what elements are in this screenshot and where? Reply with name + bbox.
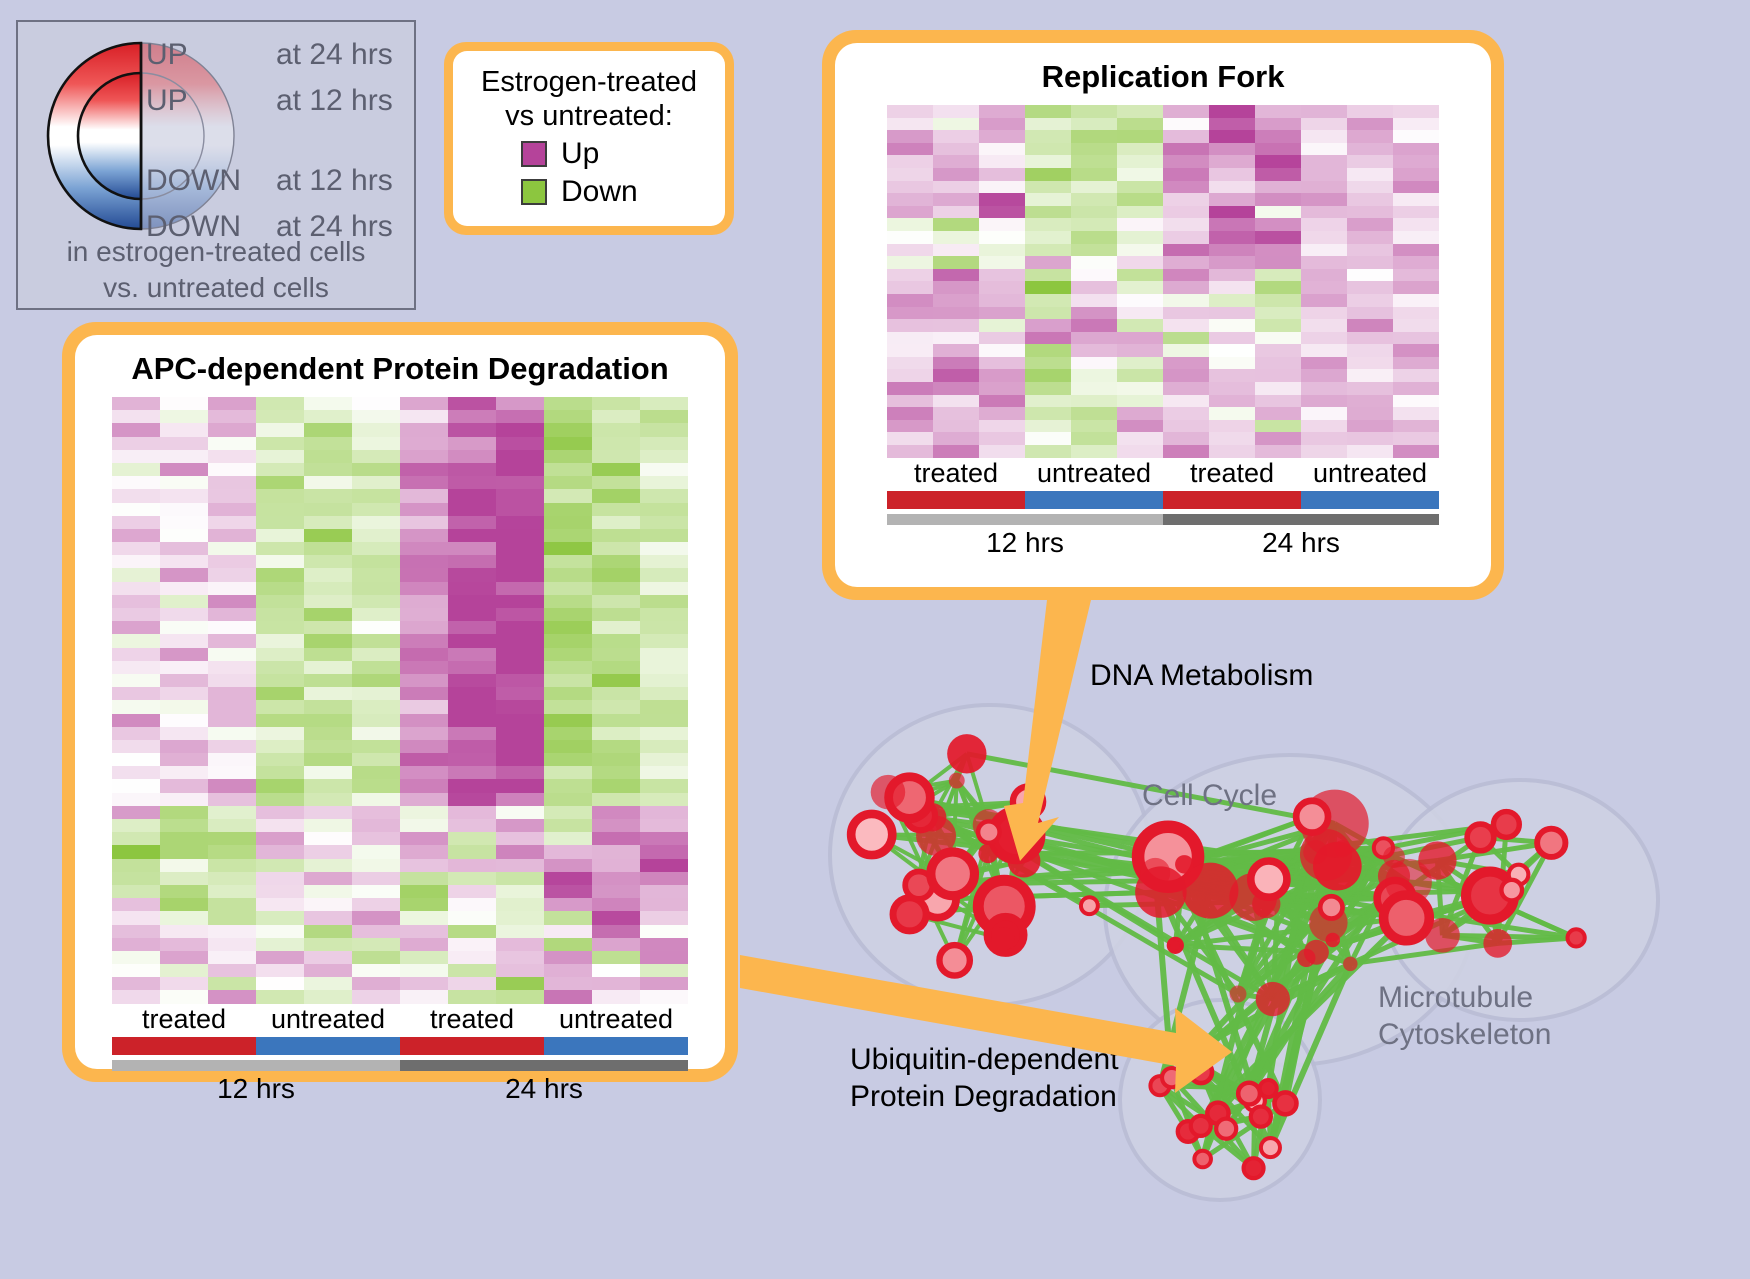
heatmap-cell — [448, 608, 496, 621]
heatmap-cell — [496, 687, 544, 700]
heatmap-cell — [208, 964, 256, 977]
heatmap-cell — [304, 450, 352, 463]
heatmap-cell — [1209, 432, 1255, 445]
heatmap-cell — [1025, 218, 1071, 231]
heatmap-cell — [160, 608, 208, 621]
heatmap-cell — [640, 423, 688, 436]
heatmap-cell — [400, 516, 448, 529]
heatmap-cell — [256, 463, 304, 476]
up-down-legend-body: Estrogen-treated vs untreated: Up Down — [453, 51, 725, 226]
heatmap-cell — [112, 621, 160, 634]
heatmap-cell — [1209, 445, 1255, 458]
heatmap-cell — [304, 648, 352, 661]
heatmap-cell — [1025, 407, 1071, 420]
heatmap-cell — [887, 407, 933, 420]
heatmap-cell — [400, 555, 448, 568]
heatmap-cell — [933, 206, 979, 219]
heatmap-cell — [160, 648, 208, 661]
heatmap-cell — [160, 410, 208, 423]
heatmap-cell — [448, 766, 496, 779]
heatmap-cell — [400, 450, 448, 463]
heatmap-cell — [256, 450, 304, 463]
heatmap-cell — [1071, 294, 1117, 307]
heatmap-cell — [400, 819, 448, 832]
heatmap-cell — [1347, 432, 1393, 445]
heatmap-cell — [1301, 319, 1347, 332]
heatmap-cell — [400, 911, 448, 924]
heatmap-cell — [1209, 395, 1255, 408]
heatmap-cell — [496, 806, 544, 819]
colour-key-direction: DOWN — [146, 164, 276, 198]
heatmap-cell — [400, 727, 448, 740]
heatmap-cell — [256, 674, 304, 687]
heatmap-cell — [1209, 231, 1255, 244]
heatmap-cell — [592, 977, 640, 990]
heatmap-cell — [1025, 445, 1071, 458]
heatmap-cell — [304, 661, 352, 674]
heatmap-cell — [640, 819, 688, 832]
heatmap-cell — [1117, 294, 1163, 307]
heatmap-cell — [640, 397, 688, 410]
heatmap-cell — [208, 832, 256, 845]
heatmap-cell — [979, 382, 1025, 395]
heatmap-cell — [112, 503, 160, 516]
heatmap-cell — [1209, 294, 1255, 307]
heatmap-cell — [592, 911, 640, 924]
heatmap-cell — [887, 231, 933, 244]
apc-group-label: treated — [112, 1004, 256, 1035]
heatmap-cell — [112, 819, 160, 832]
heatmap-cell — [640, 727, 688, 740]
heatmap-cell — [304, 740, 352, 753]
heatmap-cell — [400, 779, 448, 792]
heatmap-cell — [640, 793, 688, 806]
heatmap-cell — [352, 872, 400, 885]
heatmap-cell — [400, 437, 448, 450]
heatmap-cell — [1071, 395, 1117, 408]
heatmap-cell — [544, 568, 592, 581]
heatmap-cell — [400, 503, 448, 516]
heatmap-cell — [496, 437, 544, 450]
heatmap-cell — [400, 621, 448, 634]
heatmap-cell — [592, 450, 640, 463]
heatmap-cell — [256, 595, 304, 608]
heatmap-cell — [1255, 382, 1301, 395]
heatmap-cell — [352, 634, 400, 647]
apc-time-label: 24 hrs — [400, 1073, 688, 1105]
heatmap-cell — [1025, 281, 1071, 294]
heatmap-cell — [160, 661, 208, 674]
heatmap-cell — [400, 753, 448, 766]
heatmap-cell — [1255, 432, 1301, 445]
heatmap-cell — [112, 714, 160, 727]
down-swatch-icon — [521, 179, 547, 205]
heatmap-cell — [1347, 218, 1393, 231]
heatmap-cell — [304, 990, 352, 1003]
network-node — [1568, 929, 1585, 946]
heatmap-cell — [256, 793, 304, 806]
heatmap-cell — [544, 555, 592, 568]
heatmap-cell — [640, 977, 688, 990]
heatmap-cell — [544, 964, 592, 977]
heatmap-cell — [112, 766, 160, 779]
heatmap-cell — [256, 489, 304, 502]
heatmap-cell — [496, 503, 544, 516]
heatmap-cell — [1393, 218, 1439, 231]
heatmap-cell — [448, 410, 496, 423]
heatmap-cell — [352, 727, 400, 740]
heatmap-cell — [304, 806, 352, 819]
heatmap-cell — [979, 193, 1025, 206]
heatmap-cell — [112, 634, 160, 647]
heatmap-cell — [1209, 256, 1255, 269]
heatmap-cell — [544, 938, 592, 951]
heatmap-cell — [592, 397, 640, 410]
heatmap-cell — [1393, 193, 1439, 206]
heatmap-cell — [592, 951, 640, 964]
heatmap-cell — [304, 595, 352, 608]
legend-item-down: Down — [463, 175, 715, 209]
heatmap-cell — [1071, 432, 1117, 445]
heatmap-cell — [933, 382, 979, 395]
heatmap-cell — [887, 155, 933, 168]
heatmap-cell — [640, 925, 688, 938]
heatmap-cell — [1301, 369, 1347, 382]
heatmap-cell — [1117, 445, 1163, 458]
heatmap-cell — [496, 990, 544, 1003]
heatmap-cell — [112, 450, 160, 463]
heatmap-cell — [979, 332, 1025, 345]
heatmap-cell — [544, 885, 592, 898]
heatmap-cell — [979, 181, 1025, 194]
heatmap-cell — [112, 568, 160, 581]
heatmap-cell — [1301, 105, 1347, 118]
panel-apc-title: APC-dependent Protein Degradation — [131, 351, 668, 387]
heatmap-cell — [112, 977, 160, 990]
heatmap-cell — [304, 634, 352, 647]
heatmap-cell — [208, 938, 256, 951]
heatmap-cell — [1393, 155, 1439, 168]
heatmap-cell — [1071, 130, 1117, 143]
heatmap-cell — [112, 661, 160, 674]
heatmap-cell — [933, 294, 979, 307]
heatmap-cell — [592, 714, 640, 727]
heatmap-cell — [1117, 206, 1163, 219]
heatmap-cell — [352, 555, 400, 568]
heatmap-cell — [1025, 369, 1071, 382]
heatmap-cell — [496, 753, 544, 766]
heatmap-cell — [592, 476, 640, 489]
heatmap-cell — [1301, 332, 1347, 345]
network-node — [1325, 933, 1340, 948]
heatmap-cell — [256, 476, 304, 489]
heatmap-cell — [352, 410, 400, 423]
heatmap-cell — [979, 206, 1025, 219]
heatmap-cell — [208, 727, 256, 740]
colour-key-footnote-line2: vs. untreated cells — [18, 270, 414, 306]
heatmap-cell — [1025, 319, 1071, 332]
heatmap-cell — [496, 516, 544, 529]
heatmap-cell — [1117, 155, 1163, 168]
heatmap-cell — [352, 885, 400, 898]
apc-time-labels: 12 hrs 24 hrs — [112, 1073, 688, 1105]
panel-replication-fork-title: Replication Fork — [1042, 59, 1285, 95]
heatmap-cell — [1347, 445, 1393, 458]
heatmap-cell — [304, 582, 352, 595]
heatmap-cell — [544, 806, 592, 819]
cluster-label-cytoskeleton-line2: Cytoskeleton — [1378, 1017, 1551, 1054]
heatmap-cell — [1071, 206, 1117, 219]
heatmap-cell — [1163, 332, 1209, 345]
heatmap-cell — [640, 410, 688, 423]
heatmap-cell — [448, 727, 496, 740]
heatmap-cell — [496, 489, 544, 502]
heatmap-cell — [112, 542, 160, 555]
heatmap-cell — [160, 634, 208, 647]
heatmap-cell — [400, 397, 448, 410]
heatmap-cell — [256, 885, 304, 898]
heatmap-cell — [1393, 105, 1439, 118]
heatmap-cell — [160, 555, 208, 568]
heatmap-cell — [1117, 269, 1163, 282]
apc-group-label: untreated — [256, 1004, 400, 1035]
heatmap-cell — [1025, 130, 1071, 143]
heatmap-cell — [160, 450, 208, 463]
heatmap-cell — [544, 766, 592, 779]
network-node — [1244, 1158, 1264, 1178]
heatmap-cell — [208, 661, 256, 674]
heatmap-cell — [352, 489, 400, 502]
heatmap-cell — [592, 859, 640, 872]
heatmap-cell — [1163, 244, 1209, 257]
heatmap-cell — [112, 951, 160, 964]
heatmap-cell — [256, 845, 304, 858]
heatmap-cell — [1025, 269, 1071, 282]
heatmap-cell — [592, 634, 640, 647]
heatmap-cell — [1393, 231, 1439, 244]
heatmap-cell — [256, 951, 304, 964]
heatmap-cell — [496, 529, 544, 542]
heatmap-cell — [208, 977, 256, 990]
heatmap-cell — [352, 397, 400, 410]
cluster-label-microtubule-cytoskeleton: Microtubule Cytoskeleton — [1378, 980, 1551, 1053]
heatmap-cell — [544, 977, 592, 990]
apc-bar-treated-12 — [112, 1037, 256, 1055]
heatmap-cell — [208, 437, 256, 450]
heatmap-cell — [208, 568, 256, 581]
heatmap-cell — [1025, 256, 1071, 269]
heatmap-cell — [1301, 193, 1347, 206]
network-node — [1175, 855, 1194, 874]
heatmap-cell — [304, 951, 352, 964]
heatmap-cell — [1025, 193, 1071, 206]
network-node — [949, 773, 965, 789]
heatmap-cell — [1071, 344, 1117, 357]
apc-bar-treated-24 — [400, 1037, 544, 1055]
heatmap-cell — [112, 489, 160, 502]
heatmap-cell — [160, 911, 208, 924]
heatmap-cell — [640, 766, 688, 779]
heatmap-cell — [1071, 193, 1117, 206]
heatmap-cell — [496, 938, 544, 951]
heatmap-cell — [496, 582, 544, 595]
heatmap-cell — [544, 700, 592, 713]
heatmap-replication-fork-axis: treated untreated treated untreated 12 h — [887, 458, 1439, 559]
heatmap-cell — [352, 582, 400, 595]
heatmap-cell — [1255, 143, 1301, 156]
network-node — [1216, 1119, 1236, 1139]
heatmap-cell — [112, 845, 160, 858]
network-node — [978, 844, 998, 864]
apc-bar-untreated-24 — [544, 1037, 688, 1055]
network-node — [978, 821, 1000, 843]
heatmap-cell — [208, 503, 256, 516]
heatmap-cell — [304, 753, 352, 766]
network-node — [1260, 1080, 1277, 1097]
heatmap-cell — [544, 595, 592, 608]
heatmap-cell — [400, 898, 448, 911]
heatmap-cell — [496, 661, 544, 674]
heatmap-cell — [1117, 244, 1163, 257]
heatmap-cell — [352, 845, 400, 858]
heatmap-cell — [1163, 445, 1209, 458]
network-node — [1320, 896, 1342, 918]
heatmap-cell — [592, 898, 640, 911]
heatmap-cell — [592, 555, 640, 568]
colour-key-direction: UP — [146, 38, 276, 72]
heatmap-cell — [400, 977, 448, 990]
heatmap-cell — [112, 964, 160, 977]
heatmap-cell — [496, 793, 544, 806]
heatmap-cell — [112, 516, 160, 529]
heatmap-cell — [256, 542, 304, 555]
heatmap-cell — [304, 489, 352, 502]
heatmap-cell — [400, 766, 448, 779]
heatmap-cell — [1071, 244, 1117, 257]
heatmap-cell — [304, 674, 352, 687]
heatmap-cell — [448, 648, 496, 661]
heatmap-cell — [160, 687, 208, 700]
heatmap-cell — [448, 938, 496, 951]
heatmap-cell — [304, 529, 352, 542]
heatmap-cell — [1071, 445, 1117, 458]
heatmap-cell — [496, 832, 544, 845]
heatmap-cell — [544, 529, 592, 542]
network-node — [1230, 986, 1247, 1003]
heatmap-cell — [1347, 118, 1393, 131]
heatmap-cell — [304, 859, 352, 872]
heatmap-cell — [979, 344, 1025, 357]
heatmap-cell — [208, 753, 256, 766]
heatmap-cell — [208, 621, 256, 634]
heatmap-cell — [544, 648, 592, 661]
heatmap-cell — [112, 595, 160, 608]
heatmap-cell — [304, 727, 352, 740]
heatmap-cell — [208, 489, 256, 502]
heatmap-cell — [208, 648, 256, 661]
heatmap-cell — [1255, 231, 1301, 244]
heatmap-cell — [400, 463, 448, 476]
heatmap-cell — [640, 595, 688, 608]
cluster-label-cell-cycle: Cell Cycle — [1142, 778, 1277, 815]
heatmap-cell — [352, 700, 400, 713]
network-node — [1013, 787, 1043, 817]
heatmap-cell — [448, 555, 496, 568]
heatmap-cell — [208, 687, 256, 700]
heatmap-cell — [1255, 369, 1301, 382]
heatmap-cell — [400, 714, 448, 727]
heatmap-cell — [1025, 181, 1071, 194]
heatmap-cell — [544, 832, 592, 845]
heatmap-cell — [208, 476, 256, 489]
network-node — [1304, 940, 1329, 965]
heatmap-cell — [160, 568, 208, 581]
heatmap-cell — [256, 700, 304, 713]
heatmap-cell — [1071, 105, 1117, 118]
heatmap-cell — [352, 621, 400, 634]
heatmap-cell — [352, 714, 400, 727]
expression-colour-key: UP at 24 hrs UP at 12 hrs DOWN at 12 hrs… — [16, 20, 416, 310]
heatmap-cell — [448, 621, 496, 634]
heatmap-cell — [933, 420, 979, 433]
heatmap-cell — [544, 476, 592, 489]
heatmap-cell — [1347, 143, 1393, 156]
colour-key-footnote: in estrogen-treated cells vs. untreated … — [18, 234, 414, 307]
heatmap-cell — [592, 661, 640, 674]
heatmap-cell — [1117, 181, 1163, 194]
heatmap-cell — [304, 845, 352, 858]
heatmap-cell — [352, 529, 400, 542]
heatmap-cell — [400, 938, 448, 951]
heatmap-apc-axis: treated untreated treated untreated 12 h — [112, 1004, 688, 1105]
heatmap-cell — [544, 423, 592, 436]
heatmap-cell — [304, 898, 352, 911]
heatmap-cell — [1071, 155, 1117, 168]
heatmap-cell — [592, 582, 640, 595]
heatmap-cell — [496, 450, 544, 463]
heatmap-cell — [256, 397, 304, 410]
heatmap-cell — [208, 911, 256, 924]
heatmap-cell — [1209, 206, 1255, 219]
network-node — [1135, 866, 1186, 917]
heatmap-cell — [160, 859, 208, 872]
heatmap-cell — [1347, 130, 1393, 143]
heatmap-cell — [887, 118, 933, 131]
rep-treatment-bar — [887, 491, 1439, 509]
heatmap-cell — [256, 766, 304, 779]
heatmap-cell — [496, 648, 544, 661]
heatmap-cell — [256, 516, 304, 529]
heatmap-cell — [979, 432, 1025, 445]
heatmap-cell — [1255, 307, 1301, 320]
colour-key-time: at 24 hrs — [276, 38, 393, 72]
heatmap-cell — [1071, 407, 1117, 420]
heatmap-cell — [1347, 407, 1393, 420]
heatmap-cell — [1301, 307, 1347, 320]
heatmap-cell — [979, 307, 1025, 320]
network-node — [1313, 842, 1362, 891]
network-node — [1384, 895, 1430, 941]
heatmap-cell — [640, 608, 688, 621]
heatmap-cell — [160, 516, 208, 529]
heatmap-cell — [592, 700, 640, 713]
rep-bar-untreated-24 — [1301, 491, 1439, 509]
heatmap-cell — [1393, 332, 1439, 345]
colour-key-direction: UP — [146, 84, 276, 118]
cluster-label-ubiquitin-dependent-protein-degradation: Ubiquitin-dependent Protein Degradation — [850, 1042, 1119, 1115]
heatmap-cell — [640, 951, 688, 964]
heatmap-cell — [160, 806, 208, 819]
